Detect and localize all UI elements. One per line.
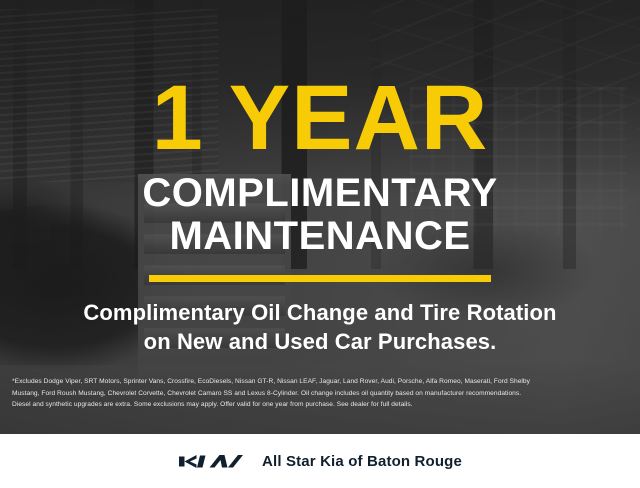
yellow-divider-rule [149, 275, 491, 282]
disclaimer-line-2: Mustang, Ford Roush Mustang, Chevrolet C… [12, 388, 628, 400]
disclaimer-text: *Excludes Dodge Viper, SRT Motors, Sprin… [0, 376, 640, 411]
disclaimer-line-1: *Excludes Dodge Viper, SRT Motors, Sprin… [12, 376, 628, 388]
promotional-ad: 1 YEAR COMPLIMENTARY MAINTENANCE Complim… [0, 0, 640, 488]
hero-background-photo: 1 YEAR COMPLIMENTARY MAINTENANCE Complim… [0, 0, 640, 434]
footer-bar: All Star Kia of Baton Rouge [0, 434, 640, 488]
tagline-line-2: on New and Used Car Purchases. [83, 328, 556, 357]
subheadline: COMPLIMENTARY MAINTENANCE [142, 172, 497, 257]
subheadline-line-2: MAINTENANCE [142, 215, 497, 257]
headline: 1 YEAR [152, 74, 489, 162]
tagline: Complimentary Oil Change and Tire Rotati… [83, 299, 556, 356]
dealer-name: All Star Kia of Baton Rouge [262, 453, 462, 470]
disclaimer-line-3: Diesel and synthetic upgrades are extra.… [12, 399, 628, 411]
tagline-line-1: Complimentary Oil Change and Tire Rotati… [83, 300, 556, 325]
subheadline-line-1: COMPLIMENTARY [142, 171, 497, 215]
ad-copy: 1 YEAR COMPLIMENTARY MAINTENANCE Complim… [0, 0, 640, 434]
kia-logo-icon [178, 452, 244, 471]
